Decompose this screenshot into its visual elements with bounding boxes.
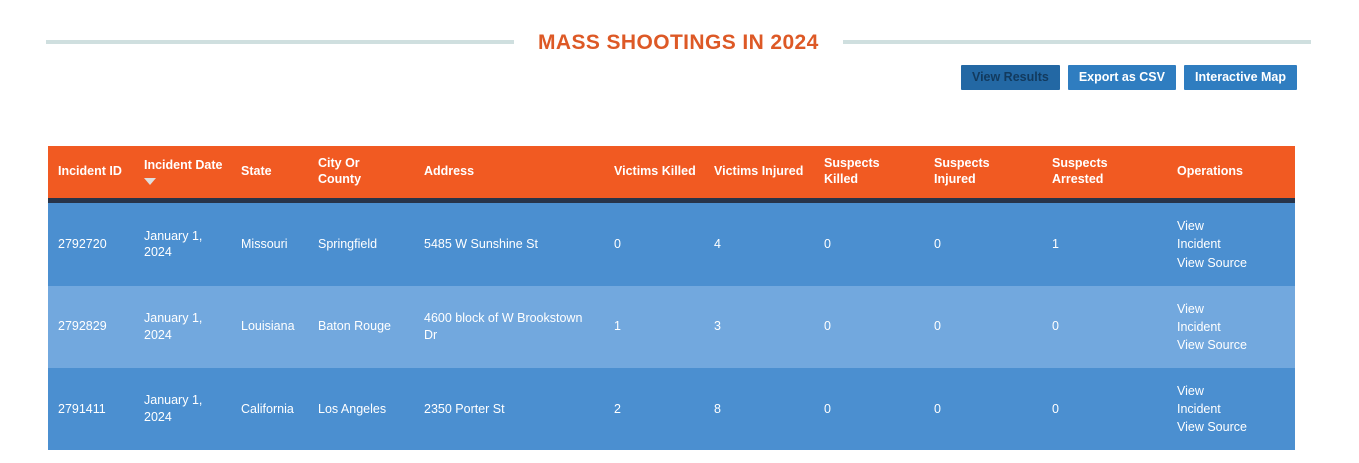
cell-state: Missouri [231,201,308,286]
cell-operations: View Incident View Source [1167,368,1295,450]
column-header-suspects-arrested[interactable]: Suspects Arrested [1042,146,1167,201]
sort-descending-icon[interactable] [144,178,156,185]
column-header-label: Victims Killed [614,164,696,180]
cell-address: 5485 W Sunshine St [414,201,604,286]
column-header-address[interactable]: Address [414,146,604,201]
cell-state: California [231,368,308,450]
cell-suspects-killed: 0 [814,368,924,450]
title-rule-right [843,40,1311,44]
page-title-block: MASS SHOOTINGS IN 2024 [0,26,1359,58]
column-header-operations: Operations [1167,146,1295,201]
view-incident-link[interactable]: View Incident [1177,217,1235,253]
toolbar: View Results Export as CSV Interactive M… [961,65,1297,90]
table-row: 2792720 January 1, 2024 Missouri Springf… [48,201,1295,286]
column-header-victims-killed[interactable]: Victims Killed [604,146,704,201]
cell-incident-date: January 1, 2024 [134,286,231,368]
column-header-label: Suspects Injured [934,156,1034,187]
view-results-button[interactable]: View Results [961,65,1060,90]
column-header-suspects-injured[interactable]: Suspects Injured [924,146,1042,201]
cell-operations: View Incident View Source [1167,286,1295,368]
page-title: MASS SHOOTINGS IN 2024 [538,32,819,53]
column-header-incident-id[interactable]: Incident ID [48,146,134,201]
column-header-suspects-killed[interactable]: Suspects Killed [814,146,924,201]
table-header-row: Incident ID Incident Date State City Or … [48,146,1295,201]
column-header-city-or-county[interactable]: City Or County [308,146,414,201]
cell-suspects-arrested: 1 [1042,201,1167,286]
column-header-label: State [241,164,300,180]
column-header-state[interactable]: State [231,146,308,201]
cell-incident-id: 2791411 [48,368,134,450]
cell-victims-injured: 8 [704,368,814,450]
column-header-label: Incident ID [58,164,126,180]
cell-victims-killed: 1 [604,286,704,368]
cell-suspects-injured: 0 [924,201,1042,286]
cell-city-or-county: Baton Rouge [308,286,414,368]
view-source-link[interactable]: View Source [1177,418,1287,436]
export-as-csv-button[interactable]: Export as CSV [1068,65,1176,90]
cell-suspects-killed: 0 [814,286,924,368]
cell-suspects-killed: 0 [814,201,924,286]
table-body: 2792720 January 1, 2024 Missouri Springf… [48,201,1295,451]
view-incident-link[interactable]: View Incident [1177,382,1235,418]
column-header-label: Suspects Killed [824,156,916,187]
cell-suspects-arrested: 0 [1042,286,1167,368]
column-header-incident-date[interactable]: Incident Date [134,146,231,201]
column-header-label: Victims Injured [714,164,806,180]
column-header-label: Suspects Arrested [1052,156,1159,187]
column-header-label: Address [424,164,596,180]
column-header-victims-injured[interactable]: Victims Injured [704,146,814,201]
cell-address: 4600 block of W Brookstown Dr [414,286,604,368]
mass-shootings-table: Incident ID Incident Date State City Or … [48,146,1295,450]
view-source-link[interactable]: View Source [1177,336,1287,354]
title-rule-left [46,40,514,44]
results-table-wrapper: Incident ID Incident Date State City Or … [48,146,1295,450]
cell-victims-killed: 2 [604,368,704,450]
cell-suspects-injured: 0 [924,286,1042,368]
cell-victims-injured: 4 [704,201,814,286]
cell-state: Louisiana [231,286,308,368]
cell-suspects-injured: 0 [924,368,1042,450]
cell-incident-date: January 1, 2024 [134,201,231,286]
cell-victims-killed: 0 [604,201,704,286]
cell-incident-id: 2792720 [48,201,134,286]
cell-operations: View Incident View Source [1167,201,1295,286]
cell-city-or-county: Springfield [308,201,414,286]
column-header-label: Operations [1177,164,1287,180]
table-row: 2791411 January 1, 2024 California Los A… [48,368,1295,450]
cell-incident-date: January 1, 2024 [134,368,231,450]
view-source-link[interactable]: View Source [1177,254,1287,272]
column-header-label: Incident Date [144,158,223,174]
table-head: Incident ID Incident Date State City Or … [48,146,1295,201]
cell-suspects-arrested: 0 [1042,368,1167,450]
cell-address: 2350 Porter St [414,368,604,450]
table-row: 2792829 January 1, 2024 Louisiana Baton … [48,286,1295,368]
interactive-map-button[interactable]: Interactive Map [1184,65,1297,90]
results-page: MASS SHOOTINGS IN 2024 View Results Expo… [0,0,1359,463]
cell-city-or-county: Los Angeles [308,368,414,450]
view-incident-link[interactable]: View Incident [1177,300,1235,336]
cell-incident-id: 2792829 [48,286,134,368]
cell-victims-injured: 3 [704,286,814,368]
column-header-label: City Or County [318,156,406,187]
